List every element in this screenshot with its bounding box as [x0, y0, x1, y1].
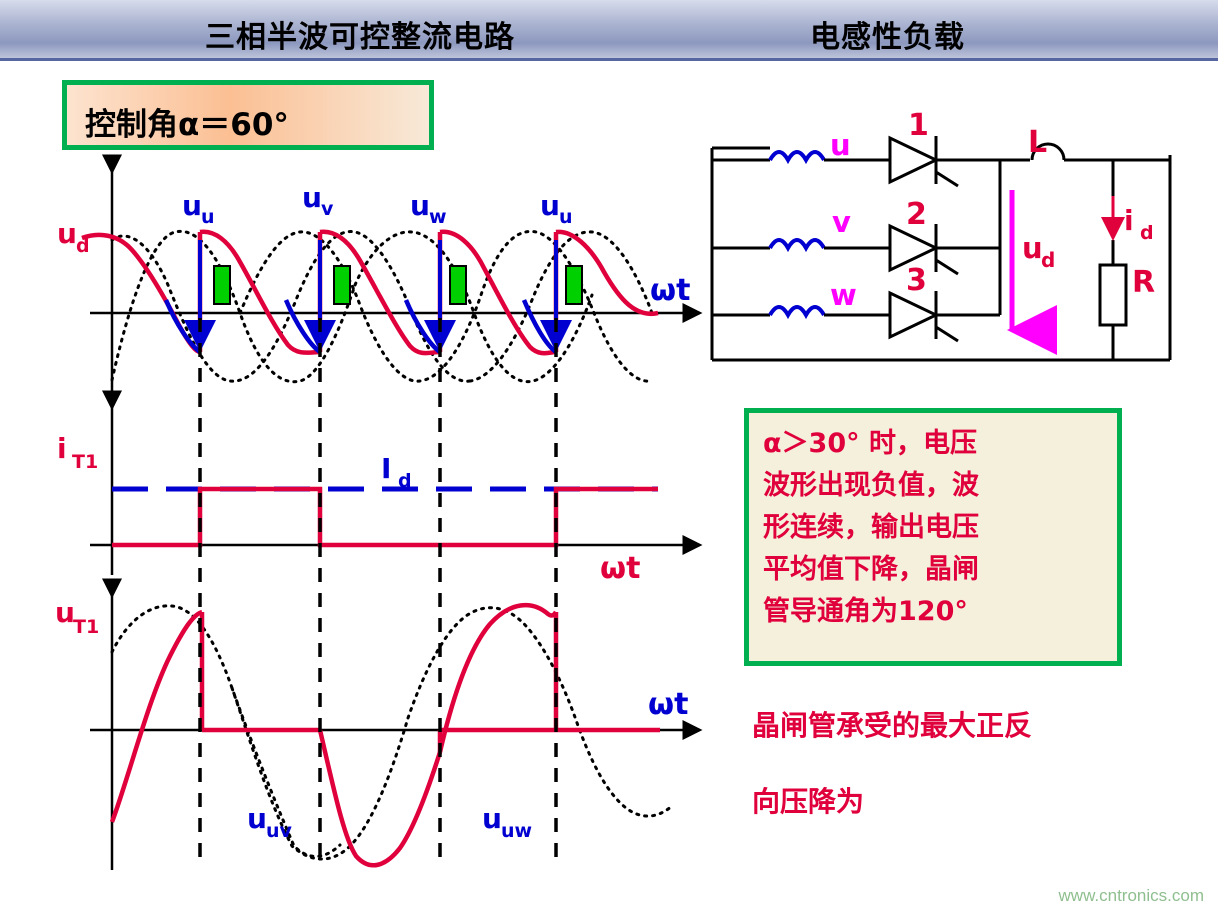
gate-pulse-blocks [214, 266, 582, 304]
label-uw: u [410, 189, 430, 222]
label-voltage-ud-sub: d [1041, 248, 1055, 272]
label-uu2: u [540, 189, 560, 222]
label-phase-v: v [832, 205, 851, 239]
label-uv: u [302, 181, 322, 214]
waveform1-dotted-sines [112, 231, 652, 381]
label-uu2-sub: u [559, 206, 573, 228]
label-uT1: u [55, 596, 75, 629]
label-uuv-sub: uv [266, 820, 293, 842]
waveform3-dotted-sines [112, 606, 672, 859]
label-thyristor-3: 3 [906, 263, 927, 298]
label-thyristor-1: 1 [908, 108, 929, 143]
label-thyristor-2: 2 [906, 197, 927, 232]
alignment-dashed-lines [200, 318, 556, 868]
label-uuv: u [247, 802, 267, 835]
label-uT1-sub: T1 [73, 616, 99, 638]
label-omega-t-1: ωt [650, 273, 690, 308]
label-inductor-L: L [1028, 125, 1047, 160]
label-uw-sub: w [429, 206, 447, 228]
label-phase-w: w [830, 278, 857, 312]
label-uu-sub: u [201, 206, 215, 228]
label-iT1: i [57, 432, 67, 465]
waveform2-iT1-trace [112, 489, 658, 545]
label-uuw: u [482, 802, 502, 835]
label-omega-t-2: ωt [600, 551, 640, 586]
label-current-id-sub: d [1140, 222, 1154, 244]
label-ud-sub: d [76, 235, 90, 257]
label-current-id: i [1124, 204, 1134, 237]
label-omega-t-3: ωt [648, 687, 688, 722]
label-Id-sub: d [398, 470, 412, 492]
waveform3-uT1-trace [112, 612, 660, 865]
label-iT1-sub: T1 [72, 451, 98, 473]
diagram-canvas: u d u u u v u w u u ωt i T1 I d ωt [0, 0, 1218, 914]
circuit-diagram [684, 136, 1170, 360]
label-voltage-ud: u [1022, 231, 1043, 265]
label-phase-u: u [830, 128, 851, 162]
label-resistor-R: R [1132, 265, 1155, 300]
label-uuw-sub: uw [501, 820, 532, 842]
label-uv-sub: v [321, 198, 334, 220]
label-Id: I [381, 452, 391, 485]
label-ud: u [57, 217, 77, 250]
label-uu: u [182, 189, 202, 222]
